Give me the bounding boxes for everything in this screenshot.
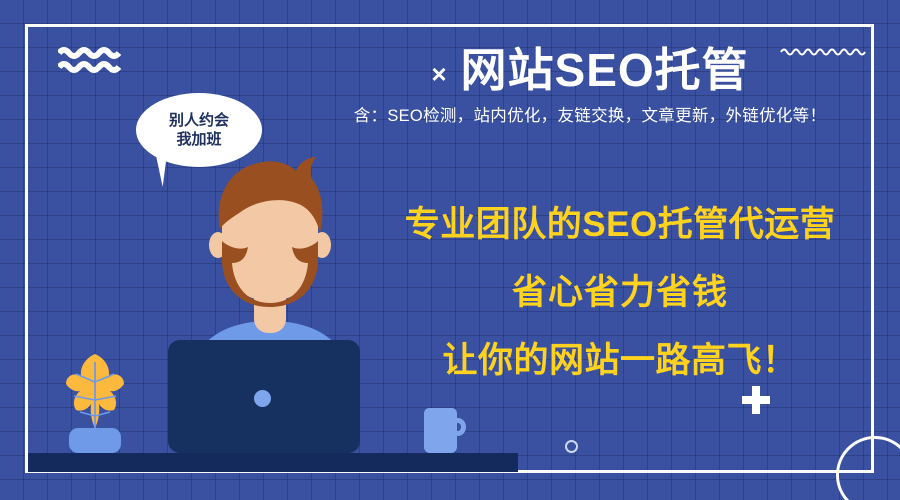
potted-plant-icon: [58, 352, 132, 453]
subtitle-text: 含：SEO检测，站内优化，友链交换，文章更新，外链优化等！: [300, 107, 880, 127]
coffee-mug-icon: [424, 408, 464, 453]
cross-mark-icon: ×: [431, 61, 446, 87]
speech-bubble-line-2: 我加班: [176, 130, 221, 149]
small-circle-outline-icon: [565, 440, 578, 453]
seo-promo-banner: × 网站SEO托管 含：SEO检测，站内优化，友链交换，文章更新，外链优化等！ …: [0, 0, 900, 500]
title-row: × 网站SEO托管: [300, 46, 880, 94]
laptop-logo-icon: [254, 390, 271, 407]
selling-point-1: 专业团队的SEO托管代运营: [360, 196, 880, 247]
laptop-icon: [168, 340, 360, 453]
plus-icon: [742, 386, 770, 414]
circle-outline-icon: [836, 436, 900, 500]
headline-block: × 网站SEO托管 含：SEO检测，站内优化，友链交换，文章更新，外链优化等！: [300, 46, 880, 127]
selling-point-2: 省心省力省钱: [360, 264, 880, 315]
page-title: 网站SEO托管: [461, 46, 749, 94]
selling-point-3: 让你的网站一路高飞！: [360, 332, 880, 383]
mug-body: [424, 408, 457, 453]
desk-surface: [28, 453, 518, 472]
wave-lines-icon: [58, 46, 126, 76]
speech-bubble: 别人约会 我加班: [136, 93, 262, 167]
speech-bubble-line-1: 别人约会: [169, 111, 229, 130]
